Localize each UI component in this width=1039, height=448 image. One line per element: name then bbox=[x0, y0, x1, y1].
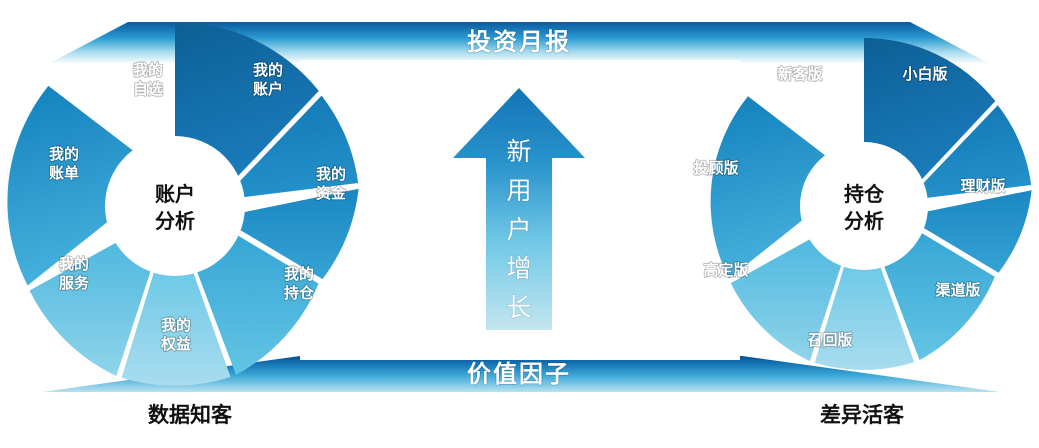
right-hub-line2: 分析 bbox=[844, 209, 884, 233]
right-label-0: 新客版 bbox=[777, 65, 822, 83]
right-label-4: 召回版 bbox=[807, 331, 852, 349]
left-label-5-line1: 我的 bbox=[59, 255, 89, 273]
left-label-4-line2: 权益 bbox=[160, 335, 191, 353]
arrow-char-2: 户 bbox=[506, 215, 531, 244]
left-label-3-line1: 我的 bbox=[284, 265, 314, 283]
right-label-2: 理财版 bbox=[960, 177, 1005, 195]
left-label-2-line2: 资金 bbox=[316, 184, 347, 202]
left-label-3-line2: 持仓 bbox=[284, 284, 315, 302]
left-label-1-line2: 账户 bbox=[253, 80, 283, 98]
left-label-0-line1: 我的 bbox=[133, 61, 163, 79]
left-hub-line1: 账户 bbox=[155, 182, 195, 206]
left-label-1-line1: 我的 bbox=[253, 61, 283, 79]
arrow-char-1: 用 bbox=[506, 176, 531, 205]
left-label-4-line1: 我的 bbox=[161, 316, 191, 334]
left-wheel-hub bbox=[105, 136, 245, 276]
right-label-3: 渠道版 bbox=[935, 281, 980, 299]
left-label-6-line2: 账单 bbox=[49, 164, 79, 182]
right-wheel-caption: 差异活客 bbox=[820, 403, 905, 427]
right-label-5: 高定版 bbox=[703, 261, 748, 279]
arrow-char-4: 长 bbox=[506, 293, 531, 322]
left-label-5-line2: 服务 bbox=[59, 274, 90, 292]
diagram-canvas: 投资月报 价值因子 新 用 户 增 长 bbox=[0, 0, 1039, 448]
right-label-6: 投顾版 bbox=[693, 159, 738, 177]
right-label-1: 小白版 bbox=[902, 65, 947, 83]
left-label-0-line2: 自选 bbox=[133, 80, 163, 98]
bottom-banner-label: 价值因子 bbox=[467, 360, 571, 388]
growth-arrow-label: 新 用 户 增 长 bbox=[506, 137, 531, 322]
top-banner-label: 投资月报 bbox=[467, 28, 571, 56]
right-wheel-hub bbox=[800, 142, 928, 270]
infographic-svg: 投资月报 价值因子 新 用 户 增 长 bbox=[0, 0, 1039, 448]
right-hub-line1: 持仓 bbox=[844, 182, 885, 206]
arrow-char-3: 增 bbox=[506, 254, 531, 283]
left-hub-line2: 分析 bbox=[155, 209, 195, 233]
left-wheel-caption: 数据知客 bbox=[148, 403, 233, 427]
arrow-char-0: 新 bbox=[506, 137, 531, 166]
left-label-2-line1: 我的 bbox=[316, 165, 346, 183]
left-label-6-line1: 我的 bbox=[49, 145, 79, 163]
